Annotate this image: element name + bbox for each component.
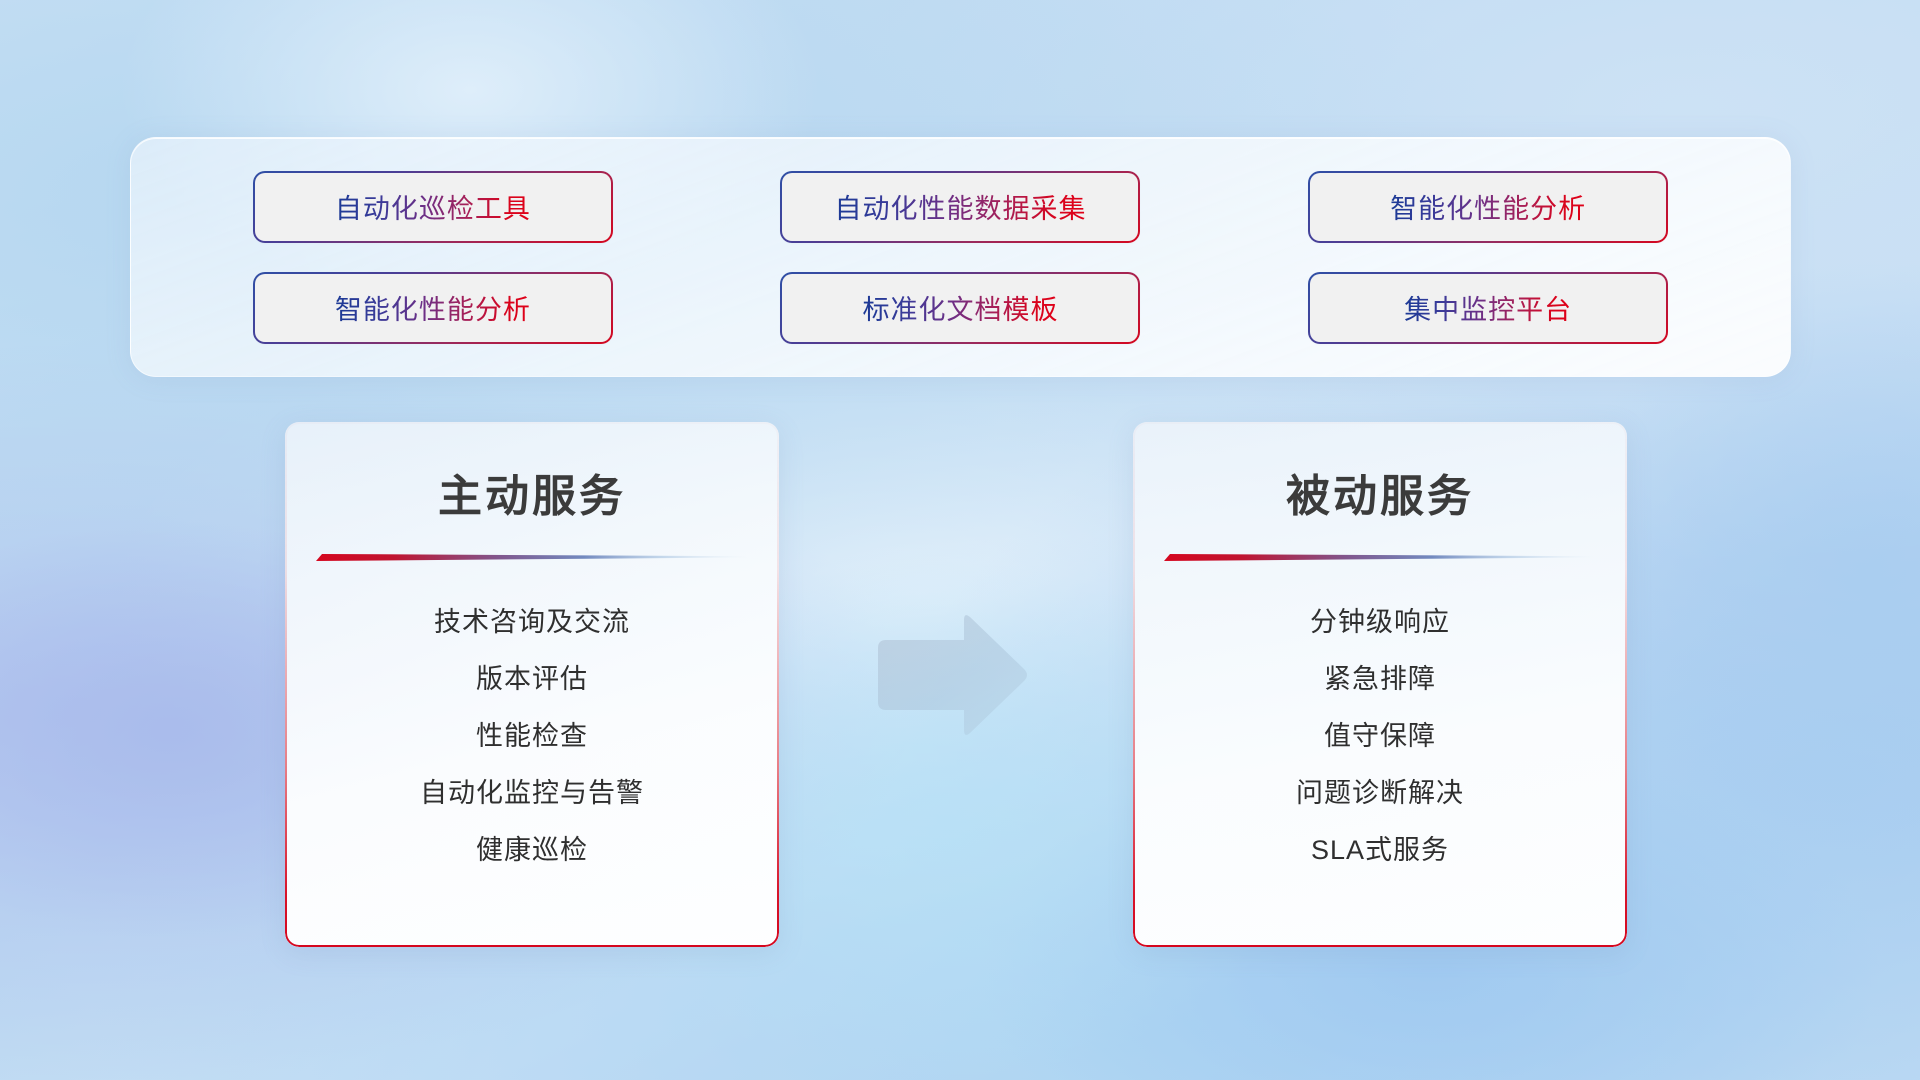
flow-arrow-right-icon [872,612,1032,740]
capability-tag[interactable]: 标准化文档模板 [782,274,1138,342]
capability-tag-label: 集中监控平台 [1404,288,1572,327]
list-item: 紧急排障 [1133,651,1627,708]
capability-tag-label: 智能化性能分析 [1390,187,1586,226]
capability-tag[interactable]: 集中监控平台 [1310,274,1666,342]
list-item: 技术咨询及交流 [285,594,779,651]
list-item: 性能检查 [285,708,779,765]
service-card-passive[interactable]: 被动服务 分钟级响应 紧急排障 值守保障 [1133,422,1627,947]
capability-tag-label: 自动化巡检工具 [335,187,531,226]
capability-tag-label: 自动化性能数据采集 [834,187,1086,226]
card-title-active: 主动服务 [285,422,779,524]
service-list-active: 技术咨询及交流 版本评估 性能检查 自动化监控与告警 健康巡检 [285,564,779,879]
list-item: 健康巡检 [285,822,779,879]
card-divider-passive [1164,550,1596,564]
capability-tag[interactable]: 自动化巡检工具 [255,173,611,241]
service-list-passive: 分钟级响应 紧急排障 值守保障 问题诊断解决 SLA式服务 [1133,564,1627,879]
capability-tag-label: 智能化性能分析 [335,288,531,327]
service-card-active[interactable]: 主动服务 技术咨询及交流 版本评估 性能检查 [285,422,779,947]
list-item: 分钟级响应 [1133,594,1627,651]
capability-tag[interactable]: 智能化性能分析 [255,274,611,342]
capability-tag-panel: 自动化巡检工具 自动化性能数据采集 智能化性能分析 智能化性能分析 标准化文档模… [130,137,1791,377]
list-item: 自动化监控与告警 [285,765,779,822]
card-title-passive: 被动服务 [1133,422,1627,524]
capability-tag[interactable]: 智能化性能分析 [1310,173,1666,241]
capability-tag[interactable]: 自动化性能数据采集 [782,173,1138,241]
list-item: 问题诊断解决 [1133,765,1627,822]
slide-canvas: 自动化巡检工具 自动化性能数据采集 智能化性能分析 智能化性能分析 标准化文档模… [0,0,1920,1080]
card-divider-active [316,550,748,564]
list-item: 值守保障 [1133,708,1627,765]
list-item: 版本评估 [285,651,779,708]
list-item: SLA式服务 [1133,822,1627,879]
capability-tag-label: 标准化文档模板 [862,288,1058,327]
